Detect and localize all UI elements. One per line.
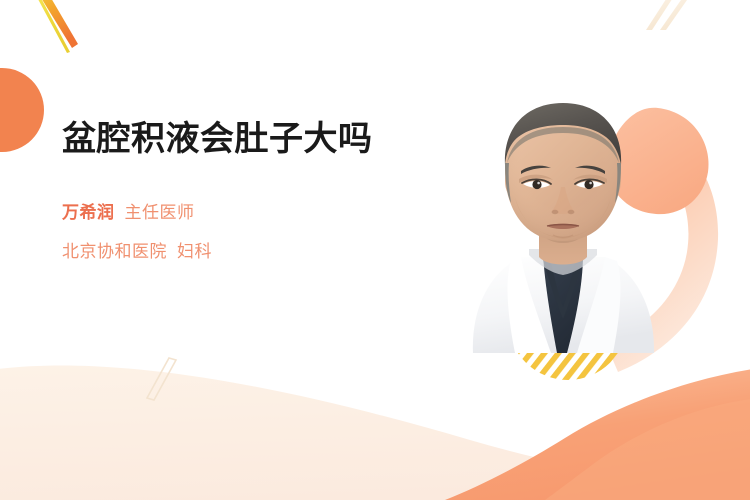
diagonal-stroke-amber — [35, 0, 78, 48]
doctor-professional-title: 主任医师 — [125, 203, 195, 222]
diagonal-stroke-cream-topright-a — [646, 0, 678, 30]
accent-circle-left — [0, 68, 44, 152]
doctor-byline: 万希润主任医师 — [62, 200, 412, 226]
wave-salmon-bottom-right-overlap — [545, 398, 750, 500]
doctor-name: 万希润 — [62, 203, 115, 222]
wave-cream-bottom — [0, 365, 750, 500]
hospital-name: 北京协和医院 — [62, 242, 167, 261]
doctor-portrait — [455, 85, 670, 355]
wave-salmon-bottom-right — [445, 368, 750, 500]
diagonal-stroke-cream-bottomleft — [147, 358, 176, 400]
diagonal-stroke-cream-topright-b — [660, 0, 694, 30]
doctor-affiliation: 北京协和医院妇科 — [62, 239, 412, 265]
text-block: 盆腔积液会肚子大吗 万希润主任医师 北京协和医院妇科 — [62, 118, 412, 265]
doctor-video-cover-card: 盆腔积液会肚子大吗 万希润主任医师 北京协和医院妇科 — [0, 0, 750, 500]
department-name: 妇科 — [177, 242, 212, 261]
diagonal-stroke-yellow — [32, 0, 70, 53]
page-title: 盆腔积液会肚子大吗 — [62, 118, 412, 162]
